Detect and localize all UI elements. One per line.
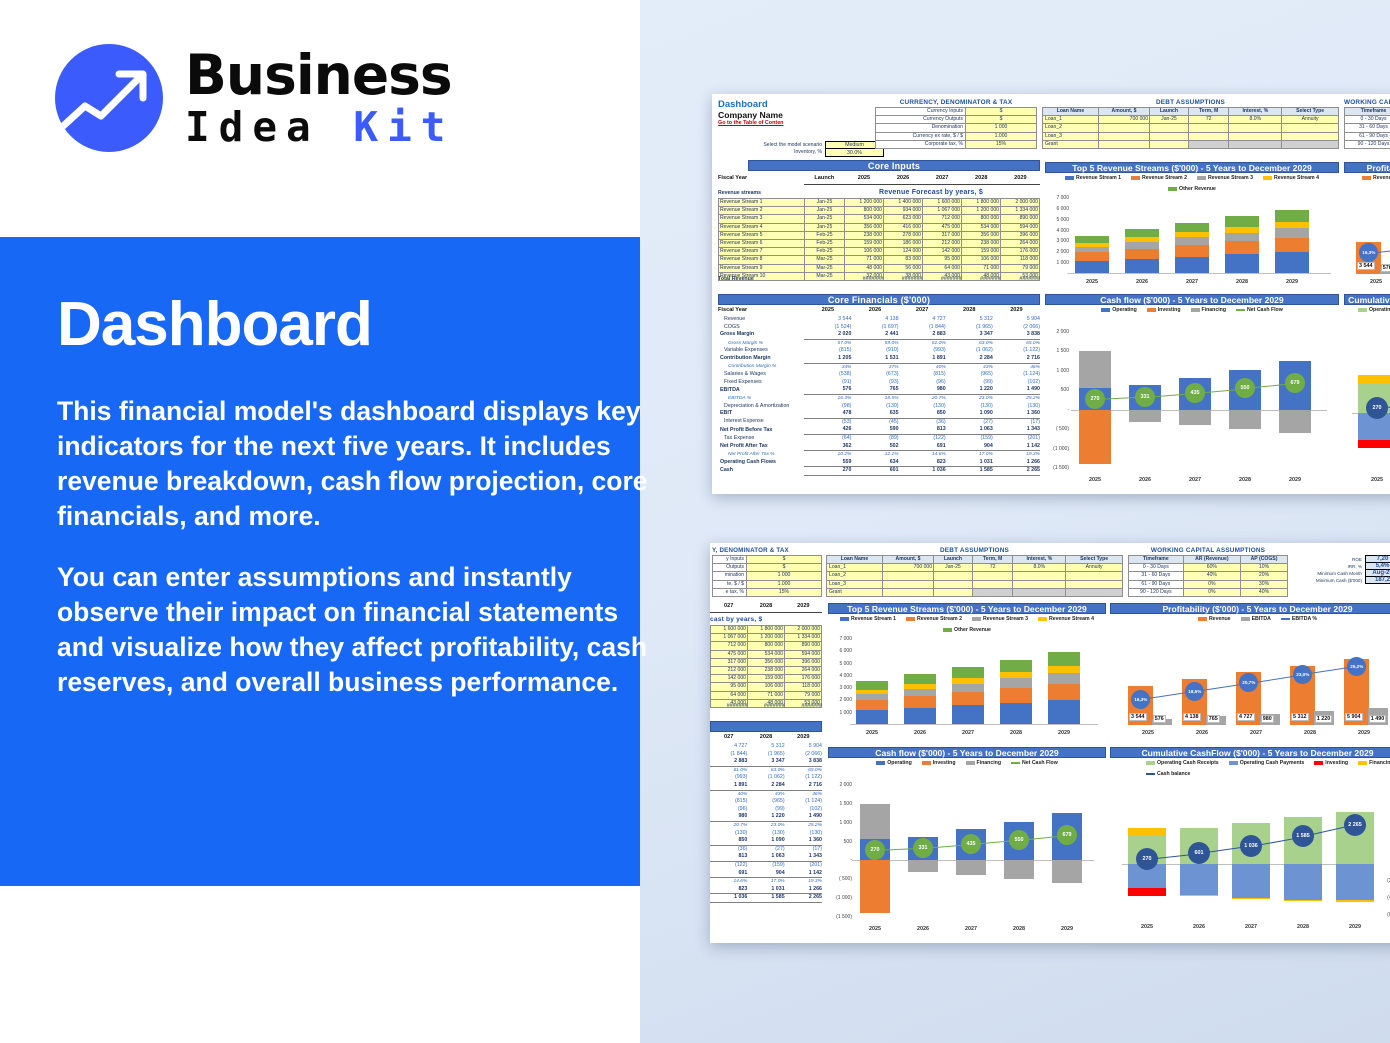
debt-cell[interactable] — [1013, 588, 1066, 596]
revenue-stream-launch[interactable]: Feb-25 — [805, 248, 845, 256]
debt-cell[interactable] — [1066, 572, 1123, 580]
revenue-forecast-table-bottom[interactable]: 1 600 0001 800 0002 000 0001 067 0001 20… — [710, 625, 822, 708]
financial-value: (1 965) — [747, 751, 784, 759]
x-axis-tick: 2027 — [1236, 730, 1276, 736]
financial-value: 2 883 — [710, 758, 747, 766]
revenue-stream-value[interactable]: 176 000 — [1001, 248, 1040, 256]
revenue-stream-value[interactable]: 106 000 — [748, 683, 785, 691]
revenue-stream-launch[interactable]: Jan-25 — [805, 223, 845, 231]
revenue-stream-value[interactable]: 238 000 — [748, 667, 785, 675]
debt-assumptions-table-bottom[interactable]: Loan NameAmount, $LaunchTerm, MInterest,… — [826, 555, 1123, 597]
core-financials-table[interactable]: Revenue3 5444 1384 7275 3125 904COGS(1 5… — [718, 316, 1040, 476]
axis-baseline — [850, 724, 1098, 725]
revenue-stream-value[interactable]: 934 000 — [884, 207, 923, 215]
financial-value: 20.7% — [899, 394, 946, 402]
bar-segment — [1000, 678, 1032, 688]
debt-cell[interactable] — [1150, 140, 1189, 148]
debt-cell[interactable]: 700 000 — [1098, 116, 1149, 124]
financial-value: 63.0% — [946, 339, 993, 347]
table-row: Cash2706011 0361 5852 265 — [718, 467, 1040, 476]
debt-cell[interactable] — [1229, 132, 1282, 140]
revenue-stream-value[interactable]: 1 400 000 — [884, 199, 923, 207]
revenue-stream-value[interactable]: 594 000 — [785, 650, 822, 658]
wc-section-title-bottom: WORKING CAPITAL ASSUMPTIONS — [1128, 547, 1288, 554]
revenue-stream-value[interactable]: 475 000 — [923, 223, 962, 231]
wc-cell[interactable]: 40% — [1241, 588, 1288, 596]
debt-cell[interactable] — [972, 588, 1013, 596]
financial-value: (102) — [785, 806, 822, 814]
revenue-stream-name[interactable]: Revenue Stream 4 — [719, 223, 805, 231]
table-row: 475 000534 000594 000 — [711, 650, 822, 658]
currency-value[interactable]: $ — [747, 564, 822, 572]
ebitda-pct-bubble: 16,3% — [1131, 690, 1150, 709]
debt-section-title-bottom: DEBT ASSUMPTIONS — [826, 547, 1123, 554]
debt-header-cell: Select Type — [1282, 108, 1339, 116]
financial-line-label: Depreciation & Amortization — [718, 403, 804, 411]
inventory-value[interactable]: 30.0% — [826, 149, 884, 156]
debt-cell[interactable] — [1229, 124, 1282, 132]
financial-value: (27) — [946, 418, 993, 426]
debt-cell[interactable] — [1098, 132, 1149, 140]
debt-cell[interactable]: Loan_3 — [1043, 132, 1099, 140]
currency-value[interactable]: $ — [966, 108, 1037, 116]
table-row: Contribution Margin1 2051 5311 8912 2842… — [718, 355, 1040, 363]
revenue-stream-value[interactable]: 594 000 — [1001, 223, 1040, 231]
currency-value[interactable]: $ — [966, 116, 1037, 124]
bar-segment — [952, 678, 984, 684]
bar-segment — [1125, 259, 1159, 274]
revenue-stream-value[interactable]: 48 000 — [845, 264, 884, 272]
currency-value[interactable]: 1 000 — [966, 124, 1037, 132]
financial-value: 1 266 — [993, 459, 1040, 467]
company-name: Company Name — [718, 110, 783, 120]
debt-cell[interactable]: Loan_2 — [1043, 124, 1099, 132]
ebitda-data-label: 765 — [1207, 715, 1220, 723]
wc-cell[interactable]: 0% — [1183, 580, 1240, 588]
revenue-stream-value[interactable]: 159 000 — [845, 240, 884, 248]
revenue-stream-value[interactable]: 1 600 000 — [923, 199, 962, 207]
revenue-stream-value[interactable]: 212 000 — [923, 240, 962, 248]
table-row: 31 - 60 Days40%20% — [1129, 572, 1288, 580]
x-axis-tick: 2026 — [904, 730, 936, 736]
revenue-stream-value[interactable]: 1 200 000 — [845, 199, 884, 207]
revenue-stream-launch[interactable]: Feb-25 — [805, 231, 845, 239]
revenue-stream-value[interactable]: 142 000 — [711, 675, 748, 683]
debt-cell[interactable] — [882, 580, 933, 588]
revenue-forecast-table[interactable]: Revenue Stream 1Jan-251 200 0001 400 000… — [718, 198, 1040, 281]
chart-profitability-top[interactable]: Profitability ($'000) - 5 Years to Decem… — [1344, 162, 1390, 292]
revenue-stream-value[interactable]: 1 600 000 — [711, 626, 748, 634]
debt-cell[interactable] — [882, 588, 933, 596]
revenue-stream-value[interactable]: 1 334 000 — [1001, 207, 1040, 215]
revenue-stream-value[interactable]: 64 000 — [711, 691, 748, 699]
debt-cell[interactable] — [1066, 588, 1123, 596]
revenue-stream-launch[interactable]: Jan-25 — [805, 215, 845, 223]
debt-cell[interactable] — [1066, 580, 1123, 588]
debt-cell[interactable]: 72 — [972, 564, 1013, 572]
revenue-stream-value[interactable]: 238 000 — [845, 231, 884, 239]
revenue-stream-value[interactable]: 118 000 — [1001, 256, 1040, 264]
revenue-stream-value[interactable]: 106 000 — [845, 248, 884, 256]
scenario-block[interactable]: Select the model scenario Medium Invento… — [724, 141, 884, 157]
bar-segment — [904, 689, 936, 697]
revenue-stream-launch[interactable]: Jan-25 — [805, 199, 845, 207]
revenue-stream-name[interactable]: Revenue Stream 7 — [719, 248, 805, 256]
currency-row: mination1 000 — [713, 572, 822, 580]
wc-cell[interactable]: 30% — [1241, 580, 1288, 588]
wc-cell[interactable]: 31 - 60 Days — [1129, 572, 1184, 580]
net-cash-flow-bubble: 435 — [1185, 383, 1205, 403]
bar-segment — [952, 692, 984, 705]
currency-row: e tax, %15% — [713, 588, 822, 596]
x-axis-tick: 2027 — [1179, 477, 1211, 483]
revenue-stream-value[interactable]: 278 000 — [884, 231, 923, 239]
revenue-stream-value[interactable]: 800 000 — [845, 207, 884, 215]
revenue-stream-value[interactable]: 534 000 — [962, 223, 1001, 231]
debt-cell[interactable]: Jan-25 — [934, 564, 973, 572]
revenue-stream-value[interactable]: 79 000 — [1001, 264, 1040, 272]
chart-cumulative-title-top: Cumulative CashFlow ($'000) - 5 Years to… — [1344, 294, 1390, 305]
debt-cell[interactable] — [1282, 140, 1339, 148]
ratio-row: Minimum Cash MonthAug-25 — [1290, 570, 1390, 577]
debt-cell[interactable]: Loan_1 — [827, 564, 883, 572]
revenue-stream-value[interactable]: 317 000 — [711, 658, 748, 666]
table-row: Net Profit Before Tax4265908131 0631 343 — [718, 426, 1040, 434]
revenue-stream-value[interactable]: 106 000 — [962, 256, 1001, 264]
fiscal-year-label: Fiscal Year — [718, 175, 804, 181]
debt-header-row: Loan NameAmount, $LaunchTerm, MInterest,… — [1043, 108, 1339, 116]
wc-cell[interactable]: 90 - 120 Days — [1345, 140, 1390, 148]
table-row: 1 067 0001 200 0001 334 000 — [711, 634, 822, 642]
revenue-stream-value[interactable]: 124 000 — [884, 248, 923, 256]
working-capital-table-bottom[interactable]: TimeframeAR (Revenue)AP (COGS)0 - 30 Day… — [1128, 555, 1288, 597]
core-financials-table-bottom[interactable]: 4 7275 3125 904(1 844)(1 965)(2 066)2 88… — [710, 743, 822, 903]
financial-value: (2 066) — [785, 751, 822, 759]
financial-value: (1 062) — [747, 774, 784, 782]
debt-cell[interactable]: Annuity — [1282, 116, 1339, 124]
debt-cell[interactable]: Grant — [827, 588, 883, 596]
wc-cell[interactable]: 10% — [1241, 564, 1288, 572]
revenue-stream-name[interactable]: Revenue Stream 3 — [719, 215, 805, 223]
revenue-stream-value[interactable]: 1 067 000 — [923, 207, 962, 215]
legend-label: Net Cash Flow — [1247, 307, 1283, 313]
revenue-stream-value[interactable]: 83 000 — [884, 256, 923, 264]
revenue-stream-value[interactable]: 71 000 — [845, 256, 884, 264]
revenue-stream-value[interactable]: 95 000 — [711, 683, 748, 691]
revenue-stream-value[interactable]: 2 000 000 — [1001, 199, 1040, 207]
revenue-stream-value[interactable]: 71 000 — [962, 264, 1001, 272]
y-axis-tick: (1 500) — [1047, 465, 1069, 471]
debt-cell[interactable]: Jan-25 — [1150, 116, 1189, 124]
revenue-stream-name[interactable]: Revenue Stream 2 — [719, 207, 805, 215]
chart-cumulative-bottom[interactable]: Cumulative CashFlow ($'000) - 5 Years to… — [1110, 747, 1390, 939]
revenue-stream-value[interactable]: 534 000 — [845, 215, 884, 223]
financial-value: (159) — [946, 434, 993, 442]
financial-value: 1 142 — [785, 870, 822, 878]
revenue-stream-value[interactable]: 1 200 000 — [748, 634, 785, 642]
bar-segment — [1125, 237, 1159, 242]
debt-cell[interactable] — [1013, 572, 1066, 580]
y-axis-tick: 3 000 — [1047, 238, 1069, 244]
bar-segment — [1180, 864, 1218, 896]
revenue-stream-value[interactable]: 800 000 — [962, 215, 1001, 223]
table-row: Revenue Stream 8Mar-2571 00083 00095 000… — [719, 256, 1040, 264]
chart-top5-revenue-bottom[interactable]: Top 5 Revenue Streams ($'000) - 5 Years … — [828, 603, 1106, 743]
debt-cell[interactable] — [972, 580, 1013, 588]
revenue-stream-value[interactable]: 71 000 — [748, 691, 785, 699]
legend-label: Revenue Stream 3 — [983, 616, 1028, 622]
wc-cell[interactable]: 61 - 90 Days — [1345, 132, 1390, 140]
legend-item: Revenue Stream 4 — [1263, 175, 1319, 181]
debt-cell[interactable] — [934, 588, 973, 596]
financial-value: (815) — [710, 798, 747, 806]
revenue-stream-value[interactable]: 1 067 000 — [711, 634, 748, 642]
financial-value: 1 360 — [993, 410, 1040, 418]
revenue-stream-value[interactable]: 64 000 — [923, 264, 962, 272]
chart-cashflow-bottom[interactable]: Cash flow ($'000) - 5 Years to December … — [828, 747, 1106, 939]
bar-segment — [1225, 233, 1259, 242]
currency-value[interactable]: 15% — [966, 140, 1037, 148]
financial-value: 576 — [804, 386, 851, 394]
year-header: 2029 — [1001, 175, 1040, 181]
debt-cell[interactable] — [1098, 124, 1149, 132]
bar-segment — [1275, 210, 1309, 222]
revenue-stream-value[interactable]: 1 800 000 — [748, 626, 785, 634]
revenue-stream-value[interactable]: 95 000 — [923, 256, 962, 264]
chart-profitability-plot-bottom: 3 5445764 1387654 7279805 3121 2205 9041… — [1110, 629, 1390, 741]
revenue-stream-value[interactable]: 396 000 — [1001, 231, 1040, 239]
revenue-stream-value[interactable]: 159 000 — [748, 675, 785, 683]
core-inputs-band: Core Inputs — [748, 160, 1040, 171]
chart-top5-plot-bottom: 7 0006 0005 0004 0003 0002 0001 000-2025… — [828, 633, 1106, 741]
currency-value[interactable]: $ — [747, 556, 822, 564]
revenue-stream-value[interactable]: 118 000 — [785, 683, 822, 691]
wc-cell[interactable]: 0% — [1183, 588, 1240, 596]
revenue-stream-value[interactable]: 416 000 — [884, 223, 923, 231]
debt-cell[interactable]: Loan_3 — [827, 580, 883, 588]
debt-cell[interactable] — [1150, 124, 1189, 132]
financial-value: 850 — [899, 410, 946, 418]
financial-value: 40% — [899, 363, 946, 371]
wc-cell[interactable]: 31 - 60 Days — [1345, 124, 1390, 132]
revenue-stream-value[interactable]: 56 000 — [884, 264, 923, 272]
revenue-stream-value[interactable]: 356 000 — [748, 658, 785, 666]
ratio-row: Minimum Cash ($'000)187,2 — [1290, 577, 1390, 584]
revenue-stream-value[interactable]: 1 800 000 — [962, 199, 1001, 207]
y-axis-tick: 3 000 — [830, 685, 852, 691]
currency-label: y Inputs — [713, 556, 747, 564]
revenue-stream-launch[interactable]: Jan-25 — [805, 207, 845, 215]
table-row: 212 000238 000264 000 — [711, 667, 822, 675]
currency-value[interactable]: 15% — [747, 588, 822, 596]
legend-swatch — [1146, 773, 1155, 775]
revenue-stream-name[interactable]: Revenue Stream 1 — [719, 199, 805, 207]
table-row: (130)(130)(130) — [710, 830, 822, 838]
revenue-stream-value[interactable]: 1 334 000 — [785, 634, 822, 642]
revenue-stream-value[interactable]: 396 000 — [785, 658, 822, 666]
x-axis-tick: 2027 — [956, 926, 986, 932]
year-header: 2028 — [747, 734, 784, 740]
debt-cell[interactable]: 72 — [1188, 116, 1229, 124]
wc-cell[interactable]: 0 - 30 Days — [1345, 116, 1390, 124]
currency-denominator-tax-block: CURRENCY, DENOMINATOR & TAX Currency Inp… — [875, 99, 1037, 149]
revenue-stream-value[interactable]: 890 000 — [785, 642, 822, 650]
wc-cell[interactable]: 20% — [1241, 572, 1288, 580]
hero-paragraph-2: You can enter assumptions and instantly … — [57, 560, 657, 700]
debt-cell[interactable] — [1013, 580, 1066, 588]
financial-value: 23.0% — [747, 821, 784, 829]
financial-value: (1 124) — [993, 371, 1040, 379]
debt-header-row: Loan NameAmount, $LaunchTerm, MInterest,… — [827, 556, 1123, 564]
wc-cell[interactable]: 60% — [1183, 564, 1240, 572]
bar-segment — [1358, 375, 1390, 384]
debt-cell[interactable] — [1188, 140, 1229, 148]
financial-value: 270 — [804, 467, 851, 476]
debt-cell[interactable] — [1188, 124, 1229, 132]
bar-segment — [856, 700, 888, 710]
debt-cell[interactable] — [934, 572, 973, 580]
debt-cell[interactable] — [972, 572, 1013, 580]
revenue-stream-value[interactable]: 317 000 — [923, 231, 962, 239]
currency-table[interactable]: Currency Inputs$Currency Outputs$Denomin… — [875, 107, 1037, 149]
revenue-stream-value[interactable]: 534 000 — [748, 650, 785, 658]
wc-cell[interactable]: 61 - 90 Days — [1129, 580, 1184, 588]
revenue-stream-value[interactable]: 79 000 — [785, 691, 822, 699]
financial-line-label: Net Profit After Tax % — [718, 451, 804, 459]
currency-value[interactable]: 1.000 — [966, 132, 1037, 140]
legend-label: Revenue Stream 3 — [1208, 175, 1253, 181]
revenue-stream-value[interactable]: 238 000 — [962, 240, 1001, 248]
dashboard-sheet-top[interactable]: Dashboard Company Name Go to the Table o… — [712, 94, 1390, 494]
revenue-stream-name[interactable]: Revenue Stream 5 — [719, 231, 805, 239]
net-cash-flow-bubble: 435 — [961, 834, 981, 854]
debt-cell[interactable] — [1098, 140, 1149, 148]
debt-cell[interactable]: Loan_2 — [827, 572, 883, 580]
debt-cell[interactable]: 8.0% — [1013, 564, 1066, 572]
revenue-stream-value[interactable]: 264 000 — [1001, 240, 1040, 248]
revenue-stream-name[interactable]: Revenue Stream 9 — [719, 264, 805, 272]
wc-cell[interactable]: 0 - 30 Days — [1129, 564, 1184, 572]
debt-header-cell: Select Type — [1066, 556, 1123, 564]
debt-assumptions-table[interactable]: Loan NameAmount, $LaunchTerm, MInterest,… — [1042, 107, 1339, 149]
currency-section-title: CURRENCY, DENOMINATOR & TAX — [875, 99, 1037, 106]
wc-cell[interactable]: 90 - 120 Days — [1129, 588, 1184, 596]
dashboard-sheet-bottom[interactable]: Y, DENOMINATOR & TAX y Inputs$Outputs$mi… — [710, 543, 1390, 943]
legend-swatch — [972, 617, 981, 621]
revenue-stream-value[interactable]: 356 000 — [845, 223, 884, 231]
currency-row: Outputs$ — [713, 564, 822, 572]
financial-value: 3 347 — [946, 331, 993, 339]
currency-value[interactable]: 1 000 — [747, 572, 822, 580]
currency-table-bottom[interactable]: y Inputs$Outputs$mination1 000te, $ / $1… — [712, 555, 822, 597]
revenue-stream-value[interactable]: 356 000 — [962, 231, 1001, 239]
revenue-stream-value[interactable]: 800 000 — [748, 642, 785, 650]
revenue-stream-launch[interactable]: Mar-25 — [805, 256, 845, 264]
revenue-stream-value[interactable]: 159 000 — [962, 248, 1001, 256]
revenue-stream-value[interactable]: 475 000 — [711, 650, 748, 658]
table-row: Revenue Stream 7Feb-25106 000124 000142 … — [719, 248, 1040, 256]
financial-value: 37% — [851, 363, 898, 371]
revenue-stream-name[interactable]: Revenue Stream 8 — [719, 256, 805, 264]
total-revenue-value: ####### — [1001, 276, 1040, 282]
revenue-stream-name[interactable]: Revenue Stream 6 — [719, 240, 805, 248]
revenue-stream-value[interactable]: 2 000 000 — [785, 626, 822, 634]
table-row: 142 000159 000176 000 — [711, 675, 822, 683]
debt-cell[interactable] — [1282, 132, 1339, 140]
revenue-stream-value[interactable]: 1 200 000 — [962, 207, 1001, 215]
revenue-stream-value[interactable]: 212 000 — [711, 667, 748, 675]
debt-cell[interactable]: 700 000 — [882, 564, 933, 572]
financial-value: (965) — [946, 371, 993, 379]
brand-name-text: Business — [185, 43, 452, 107]
chart-profitability-bottom[interactable]: Profitability ($'000) - 5 Years to Decem… — [1110, 603, 1390, 743]
revenue-stream-launch[interactable]: Mar-25 — [805, 264, 845, 272]
debt-cell[interactable] — [934, 580, 973, 588]
table-row: (993)(1 062)(1 122) — [710, 774, 822, 782]
revenue-stream-value[interactable]: 176 000 — [785, 675, 822, 683]
chart-profitability-legend-bottom: RevenueEBITDAEBITDA % — [1110, 616, 1390, 622]
bar-segment — [1075, 243, 1109, 247]
financial-value: 1 031 — [747, 886, 784, 894]
financial-value: 823 — [899, 459, 946, 467]
x-axis-tick: 2028 — [1290, 730, 1330, 736]
revenue-stream-value[interactable]: 264 000 — [785, 667, 822, 675]
financial-value: 1 142 — [993, 443, 1040, 451]
table-of-contents-link[interactable]: Go to the Table of Conten — [718, 120, 783, 126]
revenue-stream-value[interactable]: 142 000 — [923, 248, 962, 256]
ratio-label: ROE — [1290, 556, 1366, 563]
debt-cell[interactable]: Grant — [1043, 140, 1099, 148]
currency-value[interactable]: 1.000 — [747, 580, 822, 588]
currency-block-bottom: Y, DENOMINATOR & TAX y Inputs$Outputs$mi… — [712, 547, 822, 597]
wc-cell[interactable]: 40% — [1183, 572, 1240, 580]
revenue-stream-value[interactable]: 712 000 — [711, 642, 748, 650]
debt-cell[interactable] — [1150, 132, 1189, 140]
financial-value: 823 — [710, 886, 747, 894]
year-header: 2028 — [962, 175, 1001, 181]
chart-top5-revenue[interactable]: Top 5 Revenue Streams ($'000) - 5 Years … — [1045, 162, 1339, 292]
revenue-stream-value[interactable]: 890 000 — [1001, 215, 1040, 223]
revenue-stream-launch[interactable]: Feb-25 — [805, 240, 845, 248]
table-row: EBITDA %16.3%18.5%20.7%23.0%25.2% — [718, 394, 1040, 402]
table-row: 31 - 60 Days40% — [1345, 124, 1390, 132]
debt-cell[interactable] — [882, 572, 933, 580]
debt-cell[interactable] — [1229, 140, 1282, 148]
debt-cell[interactable] — [1188, 132, 1229, 140]
legend-label: Operating — [1112, 307, 1137, 313]
debt-cell[interactable]: Annuity — [1066, 564, 1123, 572]
chart-cumulative-top[interactable]: Cumulative CashFlow ($'000) - 5 Years to… — [1344, 294, 1390, 490]
debt-cell[interactable]: 8.0% — [1229, 116, 1282, 124]
financial-value: 65.0% — [785, 766, 822, 774]
debt-cell[interactable] — [1282, 124, 1339, 132]
revenue-stream-value[interactable]: 186 000 — [884, 240, 923, 248]
x-axis-tick: 2028 — [1004, 926, 1034, 932]
x-axis-tick: 2028 — [1284, 924, 1322, 930]
debt-cell[interactable]: Loan_1 — [1043, 116, 1099, 124]
revenue-stream-value[interactable]: 712 000 — [923, 215, 962, 223]
fiscal-year-header-financials: Fiscal Year20252026202720282029 — [718, 307, 1040, 313]
financial-value: 980 — [899, 386, 946, 394]
x-axis-tick: 2029 — [1052, 926, 1082, 932]
revenue-stream-value[interactable]: 623 000 — [884, 215, 923, 223]
working-capital-table[interactable]: TimeframeAR (Revenue)0 - 30 Days60%31 - … — [1344, 107, 1390, 149]
ratio-row: ROE7,20 — [1290, 556, 1390, 563]
net-cash-flow-bubble: 550 — [1009, 830, 1029, 850]
legend-swatch — [876, 761, 885, 765]
chart-cashflow-top[interactable]: Cash flow ($'000) - 5 Years to December … — [1045, 294, 1339, 490]
financial-value: 4 727 — [899, 316, 946, 324]
